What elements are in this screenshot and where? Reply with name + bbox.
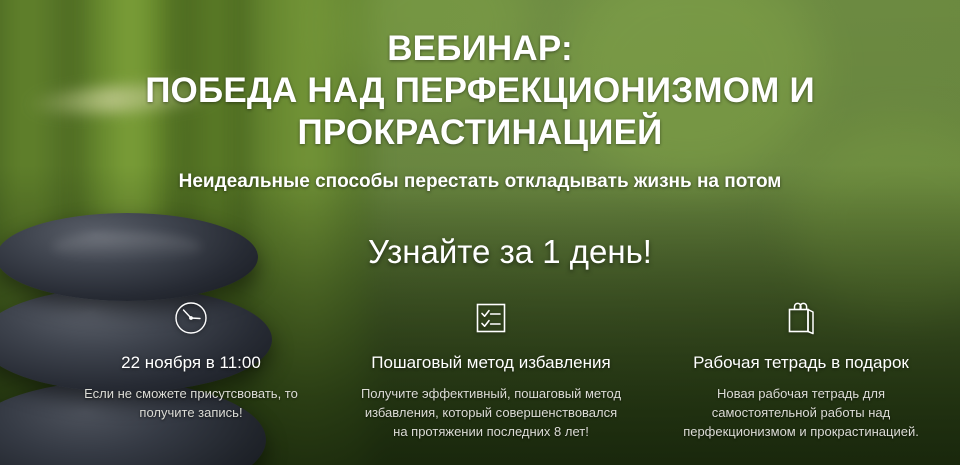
feature-list: 22 ноября в 11:00 Если не сможете присут… xyxy=(46,296,942,441)
feature-item-workbook: Рабочая тетрадь в подарок Новая рабочая … xyxy=(646,296,956,441)
feature-body-line: Если не сможете присутсвовать, то xyxy=(52,384,330,403)
gift-bag-icon xyxy=(652,296,950,340)
page-title: ВЕБИНАР: ПОБЕДА НАД ПЕРФЕКЦИОНИЗМОМ И ПР… xyxy=(0,28,960,154)
feature-body: Получите эффективный, пошаговый метод из… xyxy=(342,384,640,441)
feature-title: Рабочая тетрадь в подарок xyxy=(652,352,950,374)
feature-body-line: получите запись! xyxy=(52,403,330,422)
title-line-2: ПОБЕДА НАД ПЕРФЕКЦИОНИЗМОМ И xyxy=(40,70,920,112)
feature-item-method: Пошаговый метод избавления Получите эффе… xyxy=(336,296,646,441)
page-headline: Узнайте за 1 день! xyxy=(0,232,960,272)
feature-body: Если не сможете присутсвовать, то получи… xyxy=(52,384,330,422)
clock-icon xyxy=(52,296,330,340)
feature-body-line: на протяжении последних 8 лет! xyxy=(342,422,640,441)
feature-title: 22 ноября в 11:00 xyxy=(52,352,330,374)
title-line-1: ВЕБИНАР: xyxy=(40,28,920,70)
feature-body-line: самостоятельной работы над xyxy=(652,403,950,422)
feature-body-line: перфекционизмом и прокрастинацией. xyxy=(652,422,950,441)
checklist-icon xyxy=(342,296,640,340)
feature-body: Новая рабочая тетрадь для самостоятельно… xyxy=(652,384,950,441)
webinar-landing-hero: ВЕБИНАР: ПОБЕДА НАД ПЕРФЕКЦИОНИЗМОМ И ПР… xyxy=(0,0,960,465)
feature-body-line: Новая рабочая тетрадь для xyxy=(652,384,950,403)
feature-body-line: Получите эффективный, пошаговый метод xyxy=(342,384,640,403)
feature-title: Пошаговый метод избавления xyxy=(342,352,640,374)
page-subtitle: Неидеальные способы перестать откладыват… xyxy=(0,170,960,194)
title-line-3: ПРОКРАСТИНАЦИЕЙ xyxy=(40,112,920,154)
feature-item-date: 22 ноября в 11:00 Если не сможете присут… xyxy=(46,296,336,422)
feature-body-line: избавления, который совершенствовался xyxy=(342,403,640,422)
